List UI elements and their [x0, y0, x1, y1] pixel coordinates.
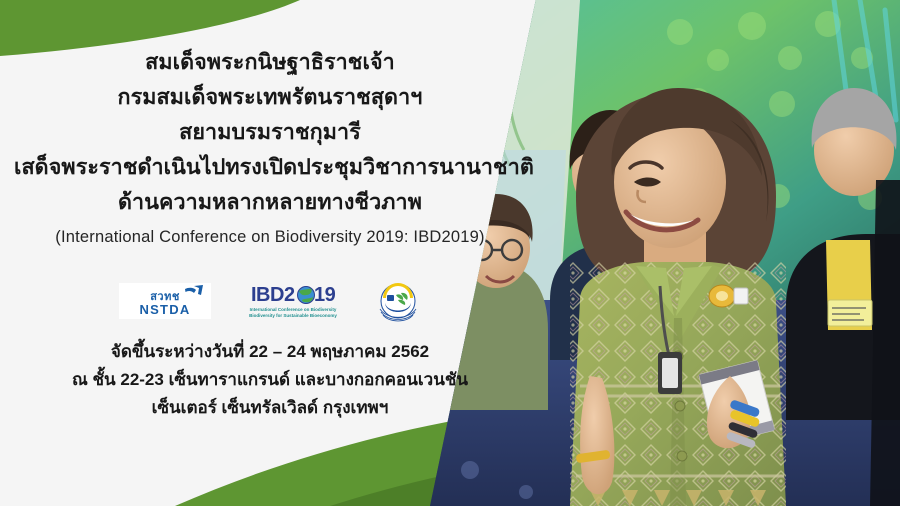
- poster-canvas: สมเด็จพระกนิษฐาธิราชเจ้า กรมสมเด็จพระเทพ…: [0, 0, 900, 506]
- text-column: สมเด็จพระกนิษฐาธิราชเจ้า กรมสมเด็จพระเทพ…: [0, 0, 540, 506]
- nstda-logo: สวทช NSTDA: [119, 283, 211, 319]
- headline-line-5: ด้านความหลากหลายทางชีวภาพ: [14, 185, 526, 220]
- detail-line-venue-1: ณ ชั้น 22-23 เซ็นทาราแกรนด์ และบางกอกคอน…: [14, 366, 526, 393]
- detail-line-date: จัดขึ้นระหว่างวันที่ 22 – 24 พฤษภาคม 256…: [14, 338, 526, 365]
- headline-line-4: เสด็จพระราชดำเนินไปทรงเปิดประชุมวิชาการน…: [14, 150, 526, 185]
- ibd2019-logo: IBD2 19 International Conference on Biod…: [249, 279, 337, 323]
- headline-line-3: สยามบรมราชกุมารี: [14, 115, 526, 150]
- svg-text:19: 19: [314, 284, 336, 306]
- svg-text:IBD2: IBD2: [251, 284, 295, 306]
- subtitle-english: (International Conference on Biodiversit…: [14, 228, 526, 247]
- svg-text:Biodiversity for Sustainable B: Biodiversity for Sustainable Bioeconomy: [249, 313, 337, 318]
- svg-text:NSTDA: NSTDA: [139, 302, 190, 317]
- headline-line-1: สมเด็จพระกนิษฐาธิราชเจ้า: [14, 45, 526, 80]
- logo-strip: สวทช NSTDA IBD2 19 International Confere…: [14, 275, 526, 327]
- svg-text:International Conference on Bi: International Conference on Biodiversity: [250, 307, 337, 312]
- headline-line-2: กรมสมเด็จพระเทพรัตนราชสุดาฯ: [14, 80, 526, 115]
- bedo-logo: [375, 278, 421, 324]
- detail-line-venue-2: เซ็นเตอร์ เซ็นทรัลเวิลด์ กรุงเทพฯ: [14, 394, 526, 421]
- svg-text:สวทช: สวทช: [150, 291, 180, 303]
